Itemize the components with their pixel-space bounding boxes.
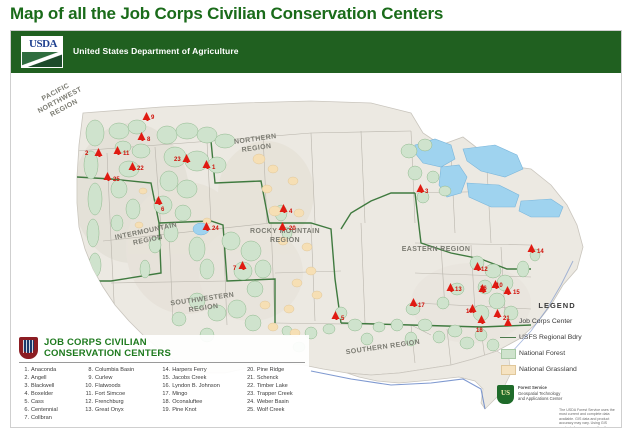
legend-row-national-forest: National Forest	[497, 348, 617, 359]
center-number-label-19: 19	[466, 309, 473, 316]
list-item-name: Great Onyx	[95, 407, 124, 413]
map-body[interactable]: PACIFIC NORTHWEST REGION NORTHERN REGION…	[11, 73, 622, 428]
job-corps-center-marker-18[interactable]	[478, 315, 487, 324]
forest-service-badge: US Forest Service Geospatial Technology …	[497, 385, 617, 428]
center-number-label-13: 13	[455, 287, 462, 294]
legend-row-national-grassland: National Grassland	[497, 364, 617, 375]
legend-label-job-corps-center: Job Corps Center	[519, 318, 572, 325]
list-item-number: 18.	[160, 398, 170, 406]
center-number-label-8: 8	[147, 137, 150, 144]
list-item-number: 21.	[245, 374, 255, 382]
forest-service-unit-line2: and Applications Center	[518, 396, 562, 402]
job-corps-center-marker-14[interactable]	[528, 244, 537, 253]
legend-label-usfs-boundary: USFS Regional Bdry	[519, 334, 582, 341]
boundary-line-icon	[497, 337, 519, 338]
center-number-label-18: 18	[476, 328, 483, 335]
job-corps-list-item: 7.Collbran	[19, 414, 79, 422]
center-number-label-2: 2	[85, 151, 88, 158]
job-corps-list-item: 20.Pine Ridge	[245, 366, 303, 374]
list-item-number: 1.	[19, 366, 29, 374]
job-corps-list-item: 3.Blackwell	[19, 382, 79, 390]
usda-logo-icon: USDA	[21, 36, 63, 68]
center-number-label-5: 5	[341, 316, 344, 323]
job-corps-center-marker-6[interactable]	[155, 196, 164, 205]
job-corps-list-item: 17.Mingo	[160, 390, 241, 398]
list-item-name: Flatwoods	[95, 383, 121, 389]
list-item-name: Frenchburg	[95, 399, 124, 405]
job-corps-column-2: 8.Columbia Basin9.Curlew10.Flatwoods11.F…	[83, 366, 156, 422]
job-corps-center-marker-7[interactable]	[239, 261, 248, 270]
list-item-number: 14.	[160, 366, 170, 374]
center-number-label-12: 12	[481, 267, 488, 274]
list-item-number: 8.	[83, 366, 93, 374]
list-item-number: 13.	[83, 406, 93, 414]
list-item-name: Angell	[31, 375, 47, 381]
job-corps-column-4: 20.Pine Ridge21.Schenck22.Timber Lake23.…	[245, 366, 303, 422]
job-corps-list-item: 2.Angell	[19, 374, 79, 382]
job-corps-list-item: 21.Schenck	[245, 374, 303, 382]
job-corps-list-item: 22.Timber Lake	[245, 382, 303, 390]
center-number-label-4: 4	[289, 209, 292, 216]
center-number-label-25: 25	[113, 177, 120, 184]
center-number-label-23: 23	[174, 157, 181, 164]
list-item-number: 4.	[19, 390, 29, 398]
center-number-label-17: 17	[418, 303, 425, 310]
job-corps-center-marker-20[interactable]	[279, 222, 288, 231]
list-item-name: Pine Knot	[172, 407, 196, 413]
job-corps-center-marker-4[interactable]	[280, 204, 289, 213]
center-number-label-22: 22	[137, 166, 144, 173]
job-corps-list-item: 4.Boxelder	[19, 390, 79, 398]
list-item-number: 6.	[19, 406, 29, 414]
job-corps-list-item: 19.Pine Knot	[160, 406, 241, 414]
job-corps-center-marker-1[interactable]	[203, 160, 212, 169]
list-item-name: Fort Simcoe	[95, 391, 125, 397]
list-item-name: Harpers Ferry	[172, 367, 207, 373]
list-item-number: 20.	[245, 366, 255, 374]
job-corps-title-line1: JOB CORPS CIVILIAN	[44, 337, 171, 348]
job-corps-list-item: 13.Great Onyx	[83, 406, 156, 414]
list-item-name: Trapper Creek	[257, 391, 293, 397]
forest-swatch-icon	[497, 349, 519, 359]
map-document: USDA United States Department of Agricul…	[10, 30, 622, 428]
center-number-label-14: 14	[537, 249, 544, 256]
job-corps-list-item: 9.Curlew	[83, 374, 156, 382]
job-corps-list-item: 24.Weber Basin	[245, 398, 303, 406]
list-item-number: 12.	[83, 398, 93, 406]
list-item-name: Blackwell	[31, 383, 54, 389]
job-corps-center-marker-2[interactable]	[95, 148, 104, 157]
list-item-name: Mingo	[172, 391, 187, 397]
job-corps-column-1: 1.Anaconda2.Angell3.Blackwell4.Boxelder5…	[19, 366, 79, 422]
job-corps-shield-icon	[19, 337, 38, 359]
list-item-name: Schenck	[257, 375, 278, 381]
list-item-name: Weber Basin	[257, 399, 289, 405]
map-page: Map of all the Job Corps Civilian Conser…	[0, 0, 630, 434]
list-item-number: 22.	[245, 382, 255, 390]
legend-title: LEGEND	[497, 301, 617, 310]
list-item-name: Collbran	[31, 415, 52, 421]
center-number-label-15: 15	[513, 290, 520, 297]
list-item-name: Anaconda	[31, 367, 56, 373]
list-item-name: Centennial	[31, 407, 58, 413]
list-item-number: 10.	[83, 382, 93, 390]
job-corps-column-3: 14.Harpers Ferry15.Jacobs Creek16.Lyndon…	[160, 366, 241, 422]
job-corps-list-item: 25.Wolf Creek	[245, 406, 303, 414]
usda-swoosh-graphic	[22, 52, 63, 68]
list-item-name: Boxelder	[31, 391, 53, 397]
list-item-number: 19.	[160, 406, 170, 414]
list-item-number: 5.	[19, 398, 29, 406]
job-corps-center-marker-23[interactable]	[183, 154, 192, 163]
list-item-number: 17.	[160, 390, 170, 398]
job-corps-list-item: 12.Frenchburg	[83, 398, 156, 406]
usda-logo-text: USDA	[22, 37, 63, 52]
agency-name: United States Department of Agriculture	[73, 46, 239, 56]
list-item-name: Columbia Basin	[95, 367, 134, 373]
center-number-label-1: 1	[212, 165, 215, 172]
list-item-name: Jacobs Creek	[172, 375, 206, 381]
list-item-number: 7.	[19, 414, 29, 422]
job-corps-center-marker-11[interactable]	[114, 146, 123, 155]
triangle-marker-icon	[497, 318, 519, 326]
job-corps-list-item: 1.Anaconda	[19, 366, 79, 374]
grassland-swatch-icon	[497, 365, 519, 375]
list-item-number: 24.	[245, 398, 255, 406]
job-corps-list-item: 11.Fort Simcoe	[83, 390, 156, 398]
list-item-name: Pine Ridge	[257, 367, 284, 373]
job-corps-center-marker-25[interactable]	[104, 172, 113, 181]
list-item-number: 15.	[160, 374, 170, 382]
job-corps-list-item: 5.Cass	[19, 398, 79, 406]
forest-service-disclaimer: The USDA Forest Service uses the most cu…	[559, 408, 617, 428]
center-number-label-7: 7	[233, 266, 236, 273]
map-legend: LEGEND Job Corps Center USFS Regional Bd…	[497, 301, 617, 380]
center-number-label-16: 16	[480, 286, 487, 293]
list-item-number: 2.	[19, 374, 29, 382]
list-item-number: 23.	[245, 390, 255, 398]
job-corps-list-item: 14.Harpers Ferry	[160, 366, 241, 374]
job-corps-divider	[19, 362, 305, 363]
job-corps-list-item: 10.Flatwoods	[83, 382, 156, 390]
list-item-number: 9.	[83, 374, 93, 382]
center-number-label-9: 9	[151, 115, 154, 122]
region-label-eastern: EASTERN REGION	[397, 245, 475, 254]
forest-service-shield-icon: US	[497, 385, 514, 404]
list-item-name: Wolf Creek	[257, 407, 285, 413]
job-corps-list-item: 18.Oconaluftee	[160, 398, 241, 406]
legend-label-national-forest: National Forest	[519, 350, 565, 357]
list-item-name: Timber Lake	[257, 383, 288, 389]
legend-row-usfs-boundary: USFS Regional Bdry	[497, 332, 617, 343]
job-corps-center-marker-15[interactable]	[504, 286, 513, 295]
job-corps-center-marker-24[interactable]	[203, 222, 212, 231]
list-item-name: Lyndon B. Johnson	[172, 383, 220, 389]
job-corps-center-marker-8[interactable]	[138, 132, 147, 141]
center-number-label-24: 24	[212, 226, 219, 233]
center-number-label-11: 11	[123, 151, 129, 158]
center-number-label-6: 6	[161, 207, 164, 214]
job-corps-center-list: JOB CORPS CIVILIAN CONSERVATION CENTERS …	[17, 335, 309, 424]
list-item-name: Oconaluftee	[172, 399, 202, 405]
job-corps-title-line2: CONSERVATION CENTERS	[44, 348, 171, 359]
list-item-number: 11.	[83, 390, 93, 398]
list-item-name: Curlew	[95, 375, 112, 381]
job-corps-list-item: 15.Jacobs Creek	[160, 374, 241, 382]
list-item-number: 3.	[19, 382, 29, 390]
list-item-name: Cass	[31, 399, 44, 405]
list-item-number: 25.	[245, 406, 255, 414]
center-number-label-20: 20	[289, 226, 296, 233]
job-corps-list-item: 23.Trapper Creek	[245, 390, 303, 398]
job-corps-list-item: 6.Centennial	[19, 406, 79, 414]
list-item-number: 16.	[160, 382, 170, 390]
job-corps-center-marker-5[interactable]	[332, 311, 341, 320]
job-corps-columns: 1.Anaconda2.Angell3.Blackwell4.Boxelder5…	[19, 366, 307, 422]
center-number-label-10: 10	[496, 283, 503, 290]
legend-label-national-grassland: National Grassland	[519, 366, 577, 373]
usda-header-band: USDA United States Department of Agricul…	[11, 31, 622, 73]
forest-service-shield-letters: US	[497, 389, 514, 397]
job-corps-list-item: 16.Lyndon B. Johnson	[160, 382, 241, 390]
job-corps-list-item: 8.Columbia Basin	[83, 366, 156, 374]
legend-row-job-corps-center: Job Corps Center	[497, 316, 617, 327]
page-title: Map of all the Job Corps Civilian Conser…	[10, 4, 443, 24]
center-number-label-3: 3	[425, 189, 428, 196]
